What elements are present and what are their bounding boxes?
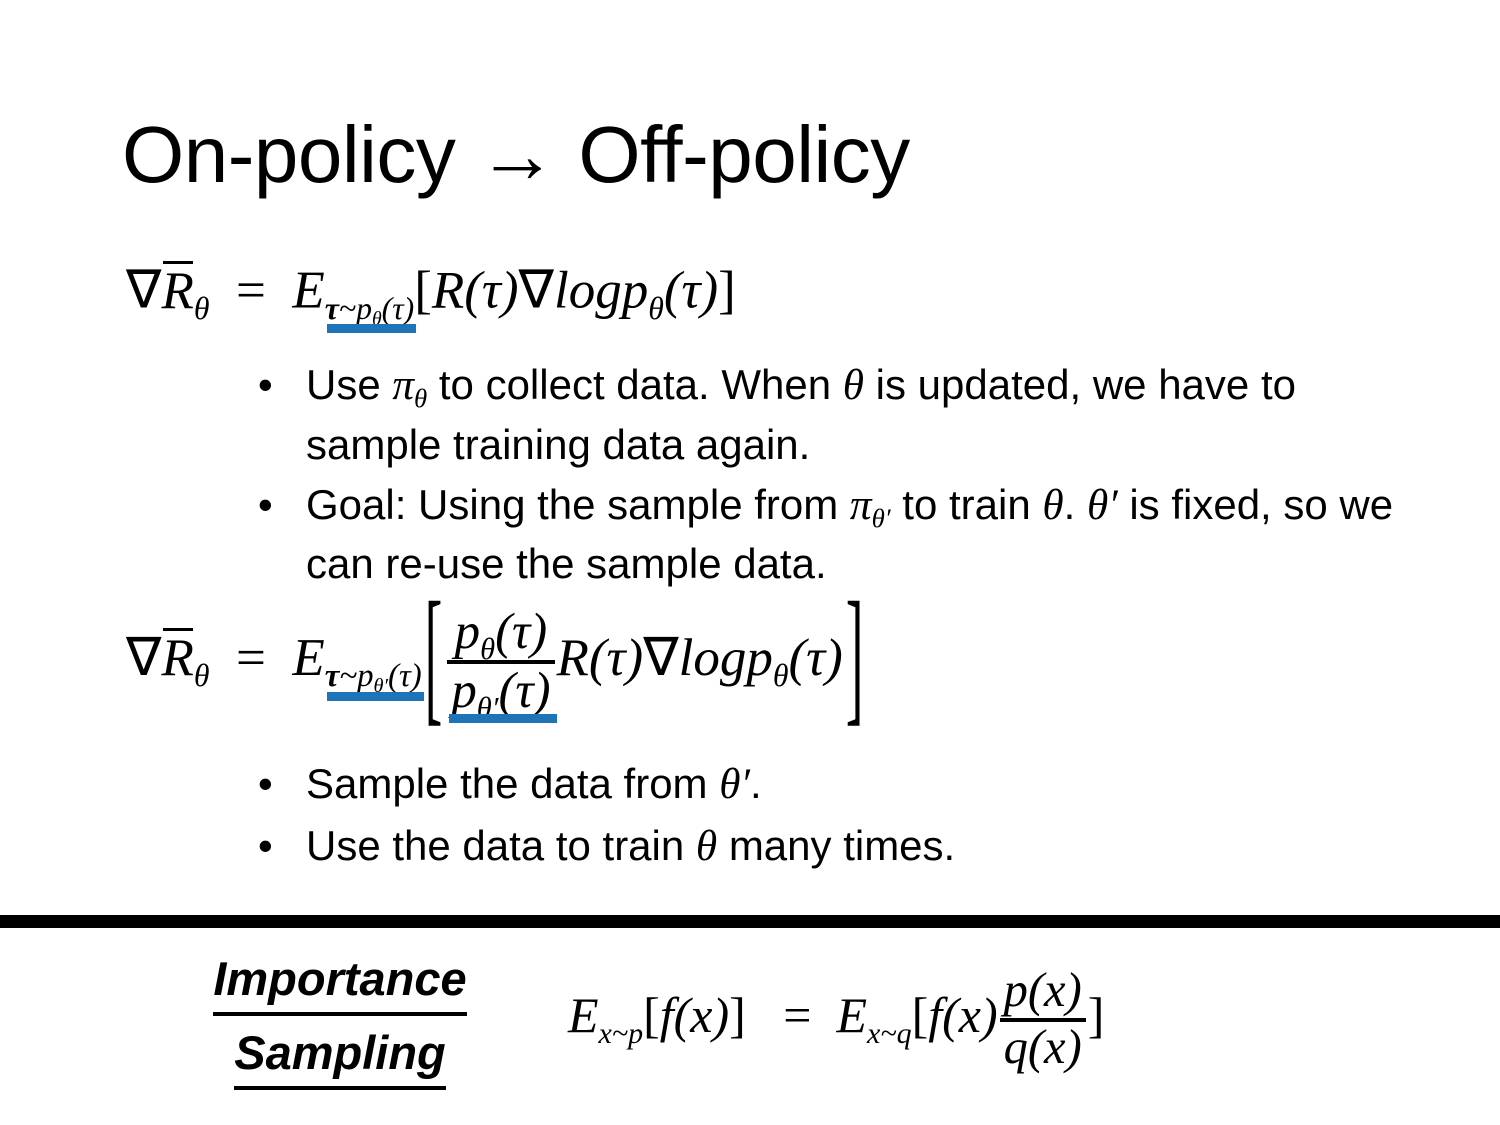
nabla-icon: ∇ [126,262,161,320]
tau-arg: (τ) [789,629,843,687]
page-title: On-policy → Off-policy [122,115,910,195]
r-bar-symbol: R [161,262,193,318]
logp-term: logp [679,629,773,687]
bullet-marker: • [258,817,306,875]
expectation-subscript-underlined: τ~pθ(τ) [325,293,414,327]
equation-importance-sampling: Ex~p[f(x)] = Ex~q[f(x)p(x)q(x)] [568,968,1104,1073]
expectation-symbol-q: E [837,987,868,1043]
bullet-marker: • [258,356,306,414]
bracket-open-lhs: [ [643,987,660,1043]
bullet-list-top: • Use πθ to collect data. When θ is upda… [258,356,1438,595]
fraction-denominator: q(x) [1000,1018,1086,1073]
theta-subscript: θ [194,293,210,325]
importance-sampling-heading: Importance Sampling [150,950,530,1090]
nabla-icon-2: ∇ [519,262,554,320]
theta-subscript-2: θ [648,293,664,325]
theta-subscript: θ [194,660,210,692]
tau-arg: (τ) [664,262,718,320]
equals-sign: = [223,629,279,687]
big-bracket-open: [ [425,583,443,734]
expectation-subscript-underlined: τ~pθ′(τ) [325,660,422,695]
r-bar-symbol: R [161,629,193,685]
logp-term: logp [554,262,648,320]
list-item-label: Goal: Using the sample from πθ′ to train… [306,476,1438,594]
expectation-symbol: E [292,262,324,320]
theta-subscript-2: θ [773,660,789,692]
bracket-open: [ [414,262,432,320]
equals-sign: = [758,987,824,1043]
list-item-label: Sample the data from θ′. [306,755,1438,815]
bracket-close-rhs: ] [1088,987,1105,1043]
expectation-symbol-p: E [568,987,599,1043]
equals-sign: = [223,262,279,320]
bracket-close-lhs: ] [729,987,746,1043]
bullet-list-bottom: • Sample the data from θ′. • Use the dat… [258,755,1438,878]
nabla-icon: ∇ [126,629,161,687]
bullet-marker: • [258,755,306,813]
big-bracket-close: ] [846,583,864,734]
list-item: • Sample the data from θ′. [258,755,1438,815]
theta-prime-subscript-den: θ′ [477,693,499,724]
heading-line-2: Sampling [234,1024,446,1090]
bracket-open-rhs: [ [912,987,929,1043]
density-ratio-fraction: p(x)q(x) [1000,967,1086,1072]
expectation-symbol: E [292,629,324,687]
fraction-denominator-underlined: pθ′(τ) [447,660,554,717]
heading-line-1: Importance [213,950,466,1016]
fraction-numerator: p(x) [1000,967,1086,1018]
bracket-close: ] [718,262,736,320]
nabla-icon-2: ∇ [643,629,678,687]
function-f-rhs: f(x) [928,987,997,1043]
list-item-label: Use πθ to collect data. When θ is update… [306,356,1438,474]
expectation-subscript-p: x~p [599,1019,644,1049]
bullet-marker: • [258,476,306,534]
list-item-label: Use the data to train θ many times. [306,817,1438,877]
list-item: • Use πθ to collect data. When θ is upda… [258,356,1438,474]
importance-weight-fraction: pθ(τ)pθ′(τ) [447,607,554,717]
equation-gradient-on-policy: ∇Rθ = Eτ~pθ(τ)[R(τ)∇logpθ(τ)] [126,262,736,318]
reward-term: R(τ) [557,629,644,687]
reward-term: R(τ) [432,262,519,320]
fraction-numerator: pθ(τ) [447,607,554,660]
equation-gradient-off-policy: ∇Rθ = Eτ~pθ′(τ)[pθ(τ)pθ′(τ)R(τ)∇logpθ(τ)… [126,608,866,718]
function-f-lhs: f(x) [660,987,729,1043]
list-item: • Use the data to train θ many times. [258,817,1438,877]
expectation-subscript-q: x~q [867,1019,912,1049]
section-divider [0,915,1500,928]
